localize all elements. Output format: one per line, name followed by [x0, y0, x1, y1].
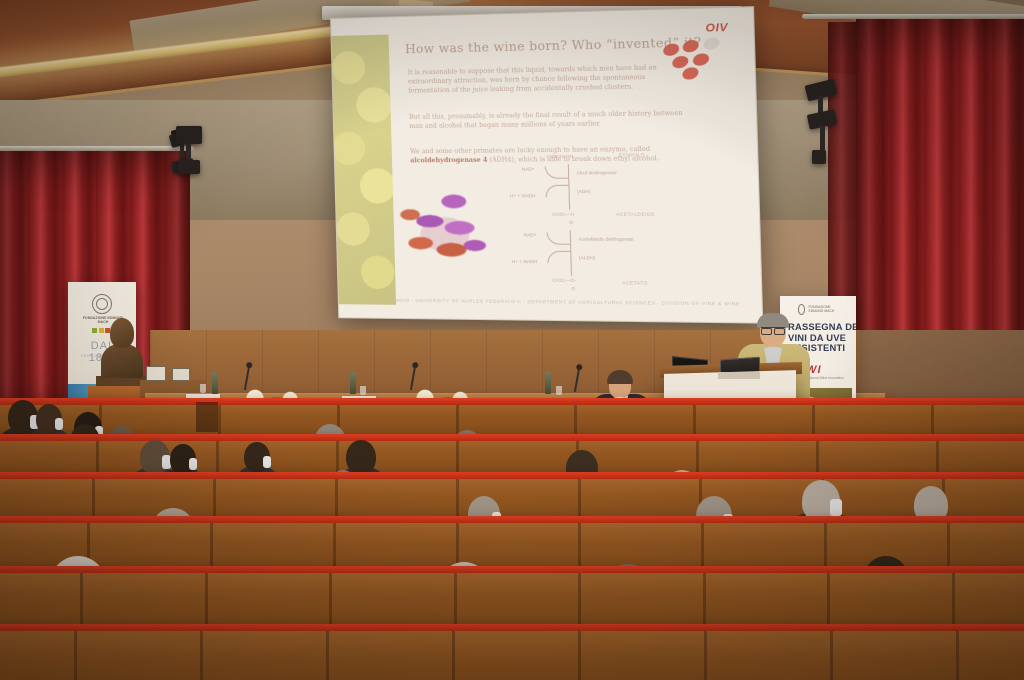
face-mask	[830, 499, 841, 516]
auditorium-photo: How was the wine born? Who “invented” it…	[0, 0, 1024, 680]
fem-seal-icon-left	[92, 294, 112, 314]
water-glass-3	[556, 386, 562, 395]
speaker-glasses	[761, 327, 785, 332]
fem-seal-icon-right: FONDAZIONE EDMUND MACH	[798, 303, 838, 316]
seat-divider	[956, 631, 959, 680]
water-glass-2	[360, 386, 366, 395]
water-glass-1	[200, 384, 206, 393]
curtain-rod-right	[802, 14, 1024, 19]
speaker-box-center-lower	[178, 160, 200, 174]
audience-member-head	[346, 440, 376, 474]
screen-border	[330, 6, 763, 324]
framed-picture-2	[172, 368, 190, 381]
fem-color-swatches-left	[92, 328, 110, 333]
lectern-paper	[718, 372, 760, 379]
banner-right-organization: FONDAZIONE EDMUND MACH	[808, 306, 838, 314]
seat-divider	[200, 631, 203, 680]
center-aisle	[196, 402, 218, 432]
water-bottle-3	[545, 372, 551, 394]
bronze-bust-head	[110, 318, 134, 348]
water-bottle-1	[212, 372, 218, 394]
spotlight-right-arm2	[820, 126, 825, 152]
projection-screen: How was the wine born? Who “invented” it…	[330, 6, 763, 324]
seat-divider	[830, 631, 833, 680]
framed-picture-1	[146, 366, 166, 381]
face-mask	[189, 458, 197, 470]
water-bottle-2	[350, 372, 356, 394]
speaker-hair	[757, 313, 789, 328]
spotlight-right-c	[812, 150, 826, 164]
seat-divider	[326, 631, 329, 680]
seat-divider	[452, 631, 455, 680]
seating-row[interactable]	[0, 624, 1024, 680]
seat-divider	[578, 631, 581, 680]
fem-seal-circle	[798, 304, 805, 315]
seat-divider	[74, 631, 77, 680]
face-mask	[263, 456, 271, 468]
face-mask	[55, 418, 63, 430]
bronze-bust-body	[101, 344, 143, 378]
curtain-rod-left	[0, 146, 194, 151]
speaker-box-center	[176, 126, 202, 144]
seat-divider	[704, 631, 707, 680]
